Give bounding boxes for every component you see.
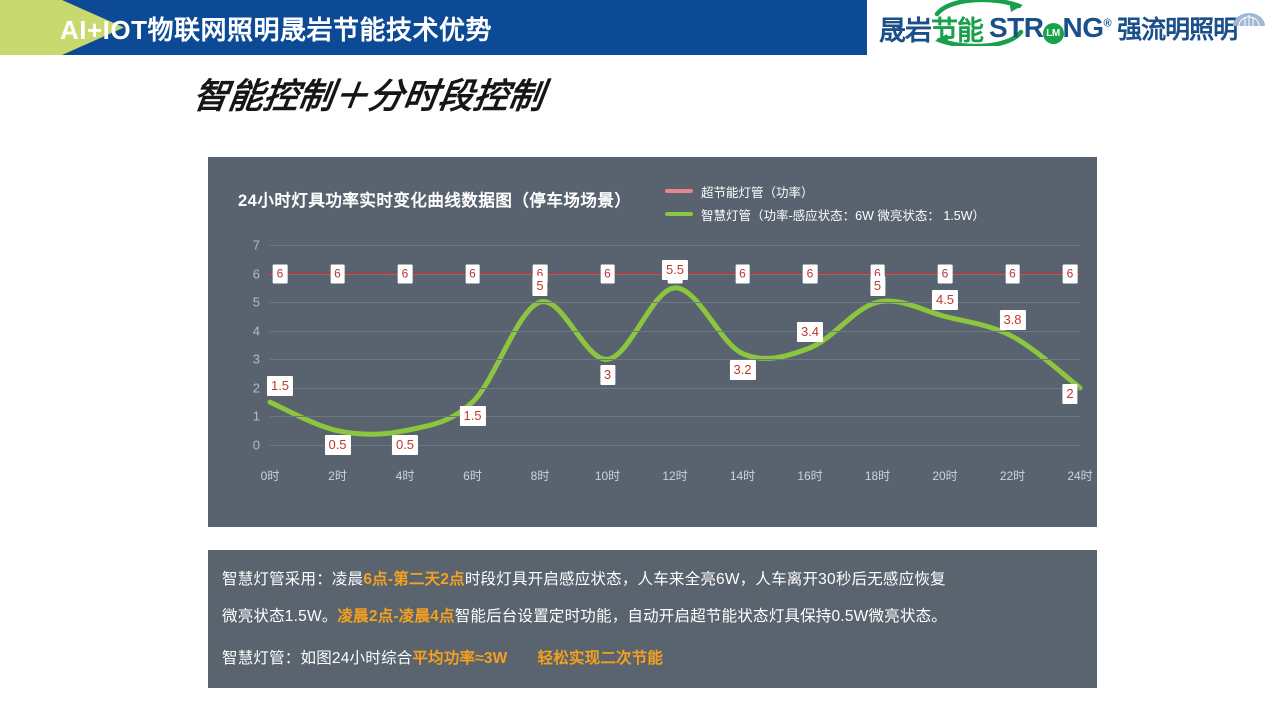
note-line-1-a: 智慧灯管采用：凌晨 — [222, 571, 363, 588]
data-label: 6 — [465, 264, 480, 283]
data-label: 2 — [1062, 384, 1077, 404]
x-axis-tick-label: 18时 — [865, 467, 890, 484]
data-label: 0.5 — [324, 435, 350, 455]
note-panel: 智慧灯管采用：凌晨6点-第二天2点时段灯具开启感应状态，人车来全亮6W，人车离开… — [208, 550, 1097, 688]
fan-cap-icon — [1232, 13, 1266, 26]
y-axis-tick-label: 0 — [242, 438, 260, 453]
note-line-3: 智慧灯管：如图24小时综合平均功率≈3W轻松实现二次节能 — [222, 646, 663, 668]
gridline — [270, 416, 1080, 417]
data-label: 5.5 — [662, 260, 688, 280]
data-label: 6 — [600, 264, 615, 283]
legend-item-super-saver: 超节能灯管（功率） — [665, 181, 985, 201]
x-axis-tick-label: 24时 — [1067, 467, 1092, 484]
data-label: 3.2 — [729, 360, 755, 380]
slide-subtitle: 智能控制＋分时段控制 — [190, 68, 547, 119]
legend-swatch-green — [665, 212, 693, 216]
x-axis-tick-label: 20时 — [932, 467, 957, 484]
logo-chinese-suffix: 强流明照明 — [1117, 10, 1237, 46]
x-axis-tick-label: 4时 — [396, 467, 415, 484]
chart-panel: 24小时灯具功率实时变化曲线数据图（停车场场景） 超节能灯管（功率） 智慧灯管（… — [208, 157, 1097, 527]
gridline — [270, 388, 1080, 389]
data-label: 6 — [1063, 264, 1078, 283]
gridline — [270, 359, 1080, 360]
logo-brand-strong: STRLMNG® — [989, 12, 1111, 44]
note-line-3-a: 智慧灯管：如图24小时综合 — [222, 650, 412, 667]
x-axis-tick-label: 14时 — [730, 467, 755, 484]
chart-title: 24小时灯具功率实时变化曲线数据图（停车场场景） — [238, 187, 631, 211]
y-axis-tick-label: 3 — [242, 352, 260, 367]
data-label: 0.5 — [392, 435, 418, 455]
data-label: 6 — [803, 264, 818, 283]
x-axis-tick-label: 0时 — [261, 467, 280, 484]
chart-legend: 超节能灯管（功率） 智慧灯管（功率-感应状态：6W 微亮状态： 1.5W） — [665, 181, 985, 227]
y-axis-tick-label: 2 — [242, 380, 260, 395]
logo-brand-prefix: STR — [989, 12, 1044, 43]
data-label: 6 — [273, 264, 288, 283]
legend-label-green: 智慧灯管（功率-感应状态：6W 微亮状态： 1.5W） — [701, 205, 985, 224]
legend-item-smart-tube: 智慧灯管（功率-感应状态：6W 微亮状态： 1.5W） — [665, 204, 985, 224]
data-label: 6 — [938, 264, 953, 283]
series-line-green — [270, 288, 1080, 434]
gridline — [270, 331, 1080, 332]
legend-swatch-red — [665, 189, 693, 193]
x-axis-tick-label: 2时 — [328, 467, 347, 484]
y-axis-tick-label: 4 — [242, 323, 260, 338]
x-axis-tick-label: 6时 — [463, 467, 482, 484]
data-label: 3.8 — [999, 310, 1025, 330]
gridline — [270, 245, 1080, 246]
note-line-2-a: 微亮状态1.5W。 — [222, 608, 337, 625]
legend-label-red: 超节能灯管（功率） — [701, 182, 814, 201]
note-line-2-b: 智能后台设置定时功能，自动开启超节能状态灯具保持0.5W微亮状态。 — [455, 608, 947, 625]
note-line-3-tail: 轻松实现二次节能 — [538, 650, 664, 667]
data-label: 1.5 — [267, 376, 293, 396]
data-label: 4.5 — [932, 290, 958, 310]
data-label: 6 — [1005, 264, 1020, 283]
note-line-1-highlight: 6点-第二天2点 — [363, 571, 465, 588]
logo-brand-suffix: NG — [1063, 12, 1104, 43]
y-axis-tick-label: 5 — [242, 295, 260, 310]
x-axis-tick-label: 16时 — [797, 467, 822, 484]
data-label: 5 — [532, 276, 547, 296]
slide-root: AI+IOT物联网照明晟岩节能技术优势 晟岩节能 STRLMNG® — [0, 0, 1280, 720]
logo-chinese-name: 晟岩节能 — [879, 9, 983, 48]
registered-trademark-icon: ® — [1104, 18, 1112, 30]
note-line-1-b: 时段灯具开启感应状态，人车来全亮6W，人车离开30秒后无感应恢复 — [465, 571, 946, 588]
gridline — [270, 302, 1080, 303]
data-label: 3 — [600, 365, 615, 385]
data-label: 1.5 — [459, 406, 485, 426]
y-axis-tick-label: 1 — [242, 409, 260, 424]
chart-plot-area: 012345670时2时4时6时8时10时12时14时16时18时20时22时2… — [270, 245, 1080, 445]
logo-cn-green: 节能 — [931, 16, 983, 46]
note-line-2-highlight: 凌晨2点-凌晨4点 — [337, 608, 454, 625]
brand-logo: 晟岩节能 STRLMNG® 强流明照明 — [867, 0, 1280, 55]
note-line-2: 微亮状态1.5W。凌晨2点-凌晨4点智能后台设置定时功能，自动开启超节能状态灯具… — [222, 604, 947, 626]
x-axis-tick-label: 10时 — [595, 467, 620, 484]
page-title: AI+IOT物联网照明晟岩节能技术优势 — [60, 10, 492, 47]
x-axis-tick-label: 12时 — [662, 467, 687, 484]
x-axis-tick-label: 8时 — [531, 467, 550, 484]
y-axis-tick-label: 6 — [242, 266, 260, 281]
data-label: 6 — [735, 264, 750, 283]
x-axis-tick-label: 22时 — [1000, 467, 1025, 484]
data-label: 3.4 — [797, 322, 823, 342]
data-label: 6 — [330, 264, 345, 283]
logo-lm-badge: LM — [1043, 23, 1064, 44]
data-label: 5 — [870, 276, 885, 296]
y-axis-tick-label: 7 — [242, 238, 260, 253]
note-line-3-highlight: 平均功率≈3W — [412, 650, 507, 667]
logo-cn-dark: 晟岩 — [879, 16, 931, 46]
data-label: 6 — [398, 264, 413, 283]
note-line-1: 智慧灯管采用：凌晨6点-第二天2点时段灯具开启感应状态，人车来全亮6W，人车离开… — [222, 567, 946, 589]
